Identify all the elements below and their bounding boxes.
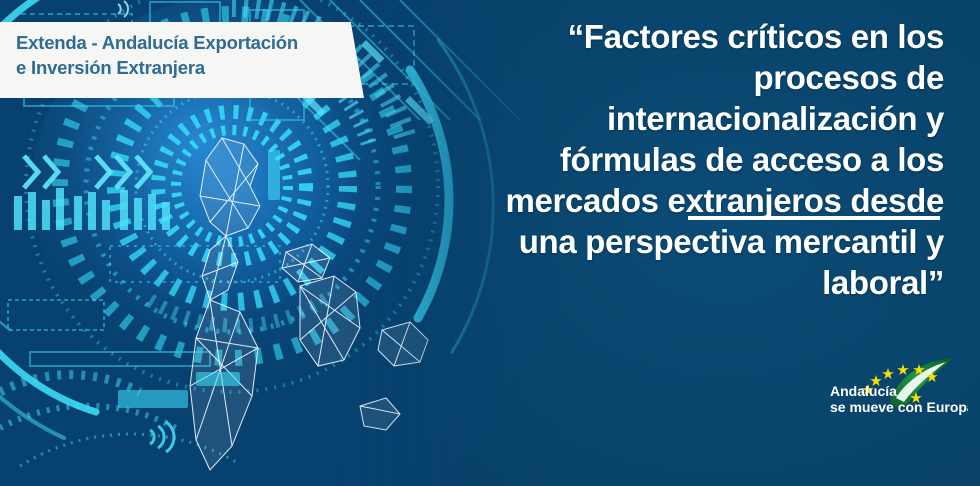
- organisation-name-line-1: Extenda - Andalucía Exportación: [16, 32, 298, 53]
- quote-line-1: “Factores críticos en los: [324, 16, 944, 57]
- logo-line-2: se mueve con Europa: [830, 399, 968, 415]
- event-title-quote: “Factores críticos en los procesos de in…: [324, 16, 944, 304]
- organisation-name-line-2: e Inversión Extranjera: [16, 57, 205, 78]
- logo-line-1: Andalucía: [830, 383, 897, 399]
- promotional-banner: Extenda - Andalucía Exportación e Invers…: [0, 0, 980, 486]
- organisation-label-plate: Extenda - Andalucía Exportación e Invers…: [0, 22, 364, 98]
- quote-line-4: fórmulas de acceso a los: [324, 139, 944, 180]
- quote-line-3: internacionalización y: [324, 98, 944, 139]
- quote-line-6: una perspectiva mercantil y: [324, 221, 944, 262]
- quote-line-7: laboral”: [324, 262, 944, 303]
- quote-line-5: mercados extranjeros desde: [324, 180, 944, 221]
- andalucia-europa-logo: Andalucía se mueve con Europa: [828, 356, 968, 418]
- organisation-name: Extenda - Andalucía Exportación e Invers…: [16, 31, 322, 80]
- quote-line-2: procesos de: [324, 57, 944, 98]
